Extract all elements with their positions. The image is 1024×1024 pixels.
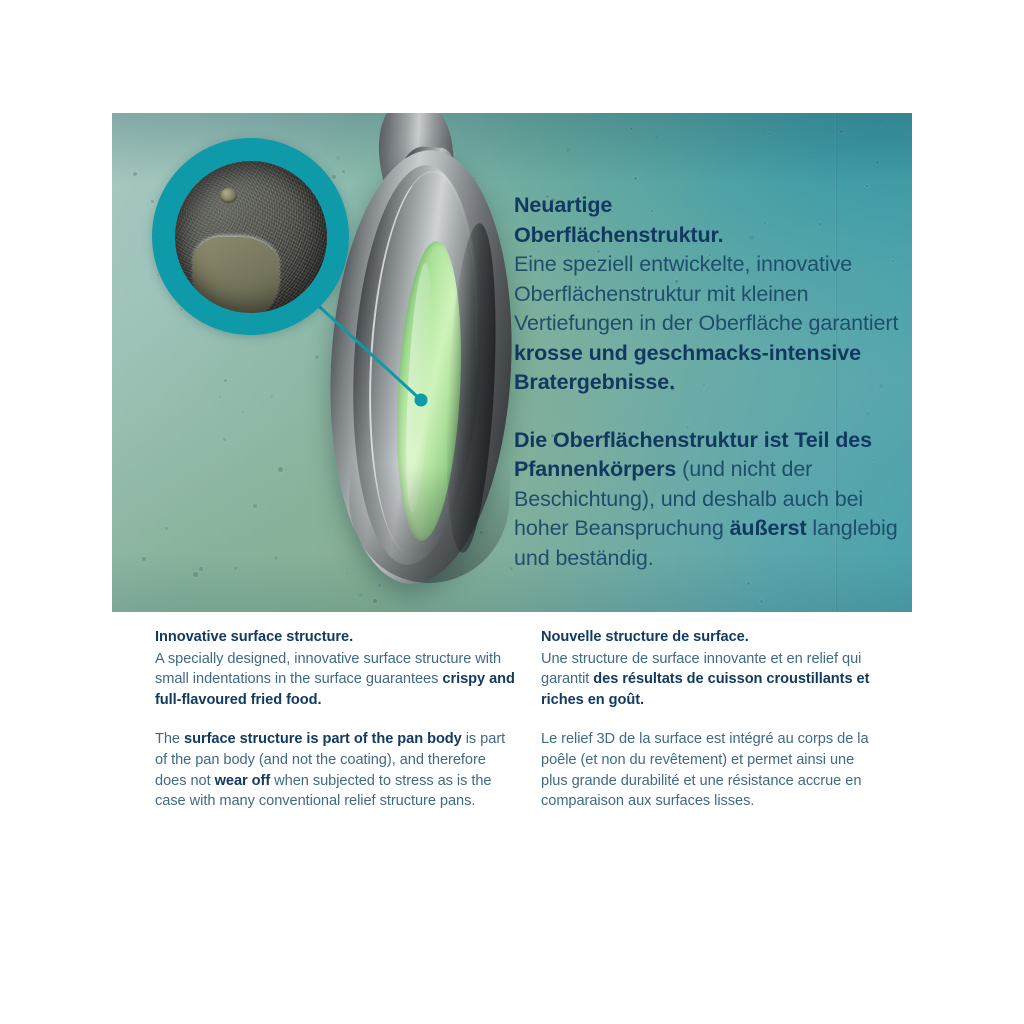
magnified-surface-texture-circle — [175, 161, 327, 313]
french-caption-column: Nouvelle structure de surface. Une struc… — [541, 627, 881, 812]
french-paragraph-1: Une structure de surface innovante et en… — [541, 649, 881, 711]
english-paragraph-1: A specially designed, innovative surface… — [155, 649, 515, 711]
hero-heading-line1: Neuartige — [514, 193, 612, 217]
hero-p1-text: Eine speziell entwickelte, innovative Ob… — [514, 252, 898, 335]
english-p2-emphasis-a: surface structure is part of the pan bod… — [184, 731, 462, 747]
french-paragraph-2: Le relief 3D de la surface est intégré a… — [541, 729, 881, 811]
english-p2-text-a: The — [155, 731, 184, 747]
english-heading: Innovative surface structure. — [155, 627, 515, 648]
hero-paragraph-1: Eine speziell entwickelte, innovative Ob… — [514, 250, 912, 398]
hero-text-block: Neuartige Oberflächenstruktur. Eine spez… — [514, 191, 912, 573]
french-heading: Nouvelle structure de surface. — [541, 627, 881, 648]
hero-p1-emphasis: krosse und geschmacks-intensive Braterge… — [514, 341, 861, 395]
hero-heading-line2: Oberflächenstruktur. — [514, 223, 723, 247]
english-caption-column: Innovative surface structure. A speciall… — [155, 627, 515, 812]
magnifier-inner-shadow — [175, 161, 327, 313]
hero-paragraph-2: Die Oberflächenstruktur ist Teil des Pfa… — [514, 426, 912, 574]
hero-p2-emphasis-b: äußerst — [730, 516, 807, 540]
english-p2-emphasis-b: wear off — [215, 773, 271, 789]
hero-image-panel: Neuartige Oberflächenstruktur. Eine spez… — [112, 113, 912, 612]
english-paragraph-2: The surface structure is part of the pan… — [155, 729, 515, 811]
hero-heading: Neuartige Oberflächenstruktur. — [514, 191, 912, 250]
